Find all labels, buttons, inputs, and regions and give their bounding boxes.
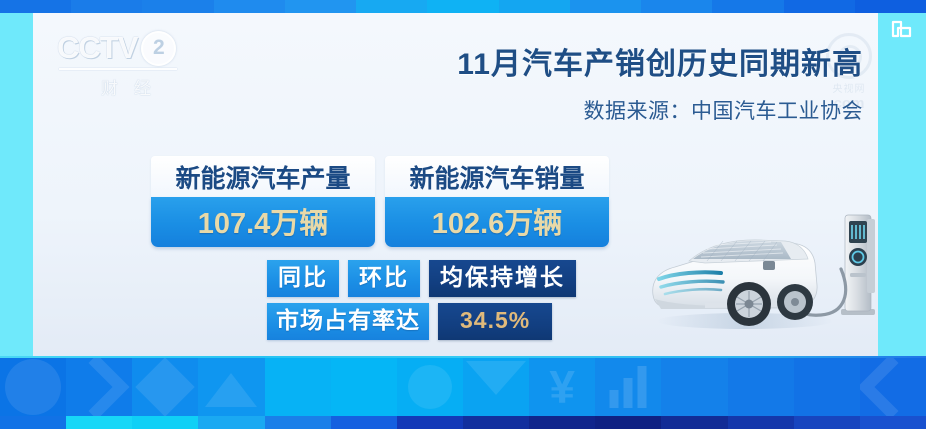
band-tile: ¥ bbox=[529, 358, 595, 416]
badge-market-share-label: 市场占有率达 bbox=[267, 303, 429, 340]
metric-label: 新能源汽车产量 bbox=[175, 165, 350, 193]
page-title: 11月汽车产销创历史同期新高 bbox=[333, 39, 863, 83]
yuan-symbol-icon: ¥ bbox=[529, 358, 595, 416]
bottom-decorative-band: ¥ bbox=[0, 356, 926, 429]
band-tile bbox=[397, 358, 463, 416]
cctv-logo-mark: CCTV 2 bbox=[57, 30, 191, 66]
rear-wheel bbox=[777, 284, 813, 320]
white-electric-car bbox=[653, 240, 817, 326]
band-tile bbox=[661, 358, 727, 416]
cctv-channel-number: 2 bbox=[141, 31, 176, 66]
band-tile bbox=[331, 358, 397, 416]
badge-mom: 环比 bbox=[348, 260, 420, 297]
cctv2-logo: CCTV 2 财经 bbox=[57, 30, 191, 104]
band-tile bbox=[463, 358, 529, 416]
broadcast-graphic-screen: CCTV 2 财经 央视网 com 11月汽车产销创历史同期新高 数据来源：中国… bbox=[0, 0, 926, 429]
bottom-band-tiles: ¥ bbox=[0, 358, 926, 416]
metric-card-header: 新能源汽车产量 bbox=[151, 156, 375, 197]
metric-card-header: 新能源汽车销量 bbox=[385, 156, 609, 197]
badge-market-share-value: 34.5% bbox=[438, 303, 552, 340]
headline-block: 11月汽车产销创历史同期新高 数据来源：中国汽车工业协会 bbox=[333, 39, 863, 125]
front-wheel bbox=[727, 282, 771, 326]
band-tile bbox=[728, 358, 794, 416]
band-tile bbox=[132, 358, 198, 416]
metric-value: 102.6万辆 bbox=[432, 208, 563, 240]
band-tile bbox=[0, 358, 66, 416]
growth-badge-row: 同比 环比 均保持增长 bbox=[267, 260, 576, 297]
band-tile bbox=[595, 358, 661, 416]
screen-cast-icon[interactable] bbox=[890, 20, 914, 42]
metric-value: 107.4万辆 bbox=[198, 208, 329, 240]
band-tile bbox=[794, 358, 860, 416]
metric-card-sales: 新能源汽车销量 102.6万辆 bbox=[385, 156, 609, 247]
data-source-label: 数据来源：中国汽车工业协会 bbox=[333, 95, 863, 125]
top-decorative-band bbox=[0, 0, 926, 13]
cctv-channel-name: 财经 bbox=[57, 74, 191, 99]
metric-card-production: 新能源汽车产量 107.4万辆 bbox=[151, 156, 375, 247]
main-stage: CCTV 2 财经 央视网 com 11月汽车产销创历史同期新高 数据来源：中国… bbox=[33, 13, 878, 356]
band-tile bbox=[860, 358, 926, 416]
metric-card-value-bar: 102.6万辆 bbox=[385, 197, 609, 247]
right-cyan-rail bbox=[878, 13, 926, 356]
cctv-logo-text: CCTV bbox=[57, 30, 137, 66]
metric-card-value-bar: 107.4万辆 bbox=[151, 197, 375, 247]
metric-cards: 新能源汽车产量 107.4万辆 新能源汽车销量 102.6万辆 bbox=[151, 156, 609, 247]
band-tile bbox=[198, 358, 264, 416]
badge-growth-statement: 均保持增长 bbox=[429, 260, 576, 297]
market-share-badge-row: 市场占有率达 34.5% bbox=[267, 303, 552, 340]
metric-label: 新能源汽车销量 bbox=[409, 165, 584, 193]
cctv-logo-underline bbox=[59, 68, 177, 70]
ev-charging-station bbox=[841, 215, 875, 315]
band-tile bbox=[66, 358, 132, 416]
band-tile bbox=[265, 358, 331, 416]
bar-chart-icon bbox=[610, 368, 647, 408]
badge-yoy: 同比 bbox=[267, 260, 339, 297]
left-cyan-rail bbox=[0, 13, 33, 356]
bottom-band-footer bbox=[0, 416, 926, 429]
electric-car-charging-illustration bbox=[645, 209, 878, 356]
